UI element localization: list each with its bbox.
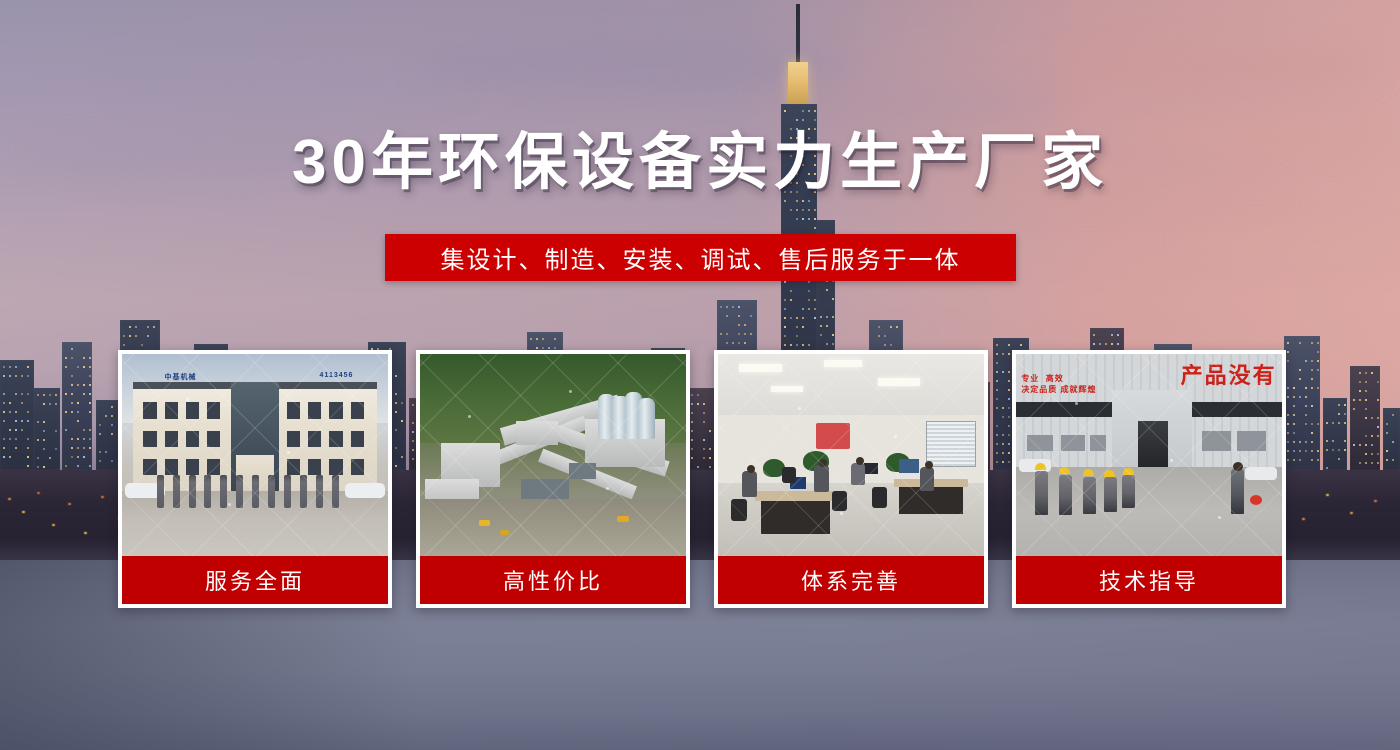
card-caption: 体系完善 (718, 556, 984, 604)
feature-card[interactable]: 体系完善 (714, 350, 988, 608)
worker-training-photo: 产品没有 专业 高效决定品质 成就辉煌 (1016, 354, 1282, 556)
card-caption-text: 服务全面 (205, 564, 305, 596)
building-sign-text: 中基机械 (165, 372, 197, 382)
factory-sign-small-text: 专业 高效决定品质 成就辉煌 (1021, 374, 1096, 396)
factory-sign-text: 产品没有 (1181, 358, 1277, 390)
company-headquarters-photo: 中基机械 4113456 (122, 354, 388, 556)
card-caption: 服务全面 (122, 556, 388, 604)
hero-banner: 30年环保设备实力生产厂家 集设计、制造、安装、调试、售后服务于一体 (0, 0, 1400, 750)
card-caption-text: 体系完善 (801, 564, 901, 596)
feature-card-row: 中基机械 4113456 服务全面 (118, 350, 1286, 608)
subtitle-banner: 集设计、制造、安装、调试、售后服务于一体 (385, 234, 1016, 281)
card-caption-text: 技术指导 (1099, 564, 1199, 596)
page-title: 30年环保设备实力生产厂家 (0, 130, 1400, 195)
production-plant-aerial-photo (420, 354, 686, 556)
card-caption: 技术指导 (1016, 556, 1282, 604)
card-caption: 高性价比 (420, 556, 686, 604)
feature-card[interactable]: 中基机械 4113456 服务全面 (118, 350, 392, 608)
tower-antenna (796, 4, 800, 68)
building-phone-text: 4113456 (320, 372, 354, 379)
tower-crown-light (788, 62, 808, 104)
office-interior-photo (718, 354, 984, 556)
card-caption-text: 高性价比 (503, 564, 603, 596)
feature-card[interactable]: 产品没有 专业 高效决定品质 成就辉煌 (1012, 350, 1286, 608)
subtitle-text: 集设计、制造、安装、调试、售后服务于一体 (441, 240, 961, 275)
feature-card[interactable]: 高性价比 (416, 350, 690, 608)
